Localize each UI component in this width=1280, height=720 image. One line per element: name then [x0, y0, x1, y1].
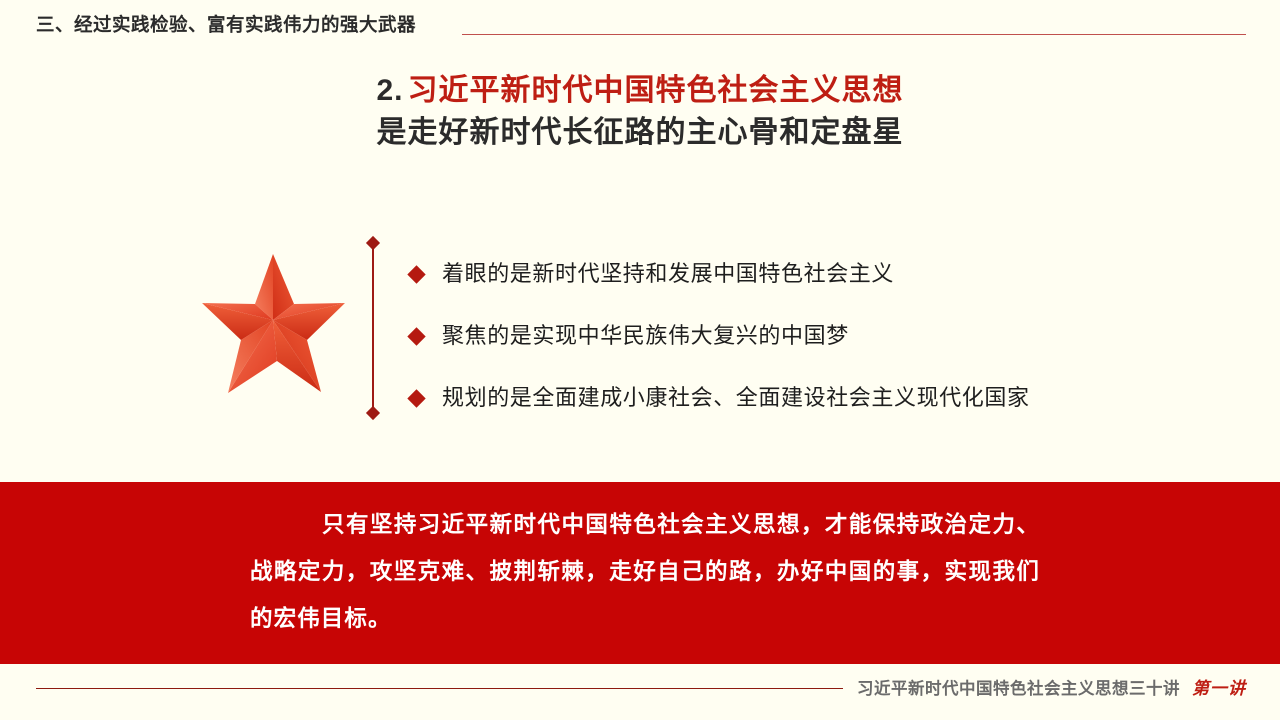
quote-banner: 只有坚持习近平新时代中国特色社会主义思想，才能保持政治定力、战略定力，攻坚克难、… — [0, 482, 1280, 664]
diamond-bullet-icon — [407, 265, 425, 283]
connector-stem — [372, 243, 374, 413]
slide-footer: 习近平新时代中国特色社会主义思想三十讲 第一讲 — [0, 664, 1280, 720]
list-item-label: 聚焦的是实现中华民族伟大复兴的中国梦 — [442, 321, 1210, 351]
connector-diamond-bottom — [366, 406, 380, 420]
title-number: 2. — [376, 74, 403, 107]
diamond-bullet-icon — [407, 327, 425, 345]
slide-canvas: 三、经过实践检验、富有实践伟力的强大武器 2.习近平新时代中国特色社会主义思想 … — [0, 0, 1280, 720]
quote-banner-text: 只有坚持习近平新时代中国特色社会主义思想，才能保持政治定力、战略定力，攻坚克难、… — [250, 501, 1040, 642]
footer-series-title: 习近平新时代中国特色社会主义思想三十讲 — [857, 675, 1180, 699]
footer-lecture-badge: 第一讲 — [1192, 674, 1246, 699]
title-line-1: 2.习近平新时代中国特色社会主义思想 — [0, 70, 1280, 112]
diamond-bullet-icon — [407, 389, 425, 407]
slide-title-block: 2.习近平新时代中国特色社会主义思想 是走好新时代长征路的主心骨和定盘星 — [0, 70, 1280, 154]
header-divider-rule — [462, 34, 1246, 35]
footer-text-group: 习近平新时代中国特色社会主义思想三十讲 第一讲 — [843, 674, 1246, 699]
header-section-label: 三、经过实践检验、富有实践伟力的强大武器 — [36, 10, 416, 40]
list-item-label: 着眼的是新时代坚持和发展中国特色社会主义 — [442, 259, 1210, 289]
bullet-connector-line — [366, 236, 380, 420]
list-item: 规划的是全面建成小康社会、全面建设社会主义现代化国家 — [410, 367, 1210, 429]
list-item: 着眼的是新时代坚持和发展中国特色社会主义 — [410, 243, 1210, 305]
five-pointed-star-icon — [197, 248, 349, 398]
title-highlight-text: 习近平新时代中国特色社会主义思想 — [408, 74, 904, 107]
list-item-label: 规划的是全面建成小康社会、全面建设社会主义现代化国家 — [442, 383, 1210, 413]
title-line-2: 是走好新时代长征路的主心骨和定盘星 — [0, 112, 1280, 154]
bullet-list: 着眼的是新时代坚持和发展中国特色社会主义 聚焦的是实现中华民族伟大复兴的中国梦 … — [410, 243, 1210, 429]
list-item: 聚焦的是实现中华民族伟大复兴的中国梦 — [410, 305, 1210, 367]
slide-header: 三、经过实践检验、富有实践伟力的强大武器 — [0, 10, 1280, 42]
